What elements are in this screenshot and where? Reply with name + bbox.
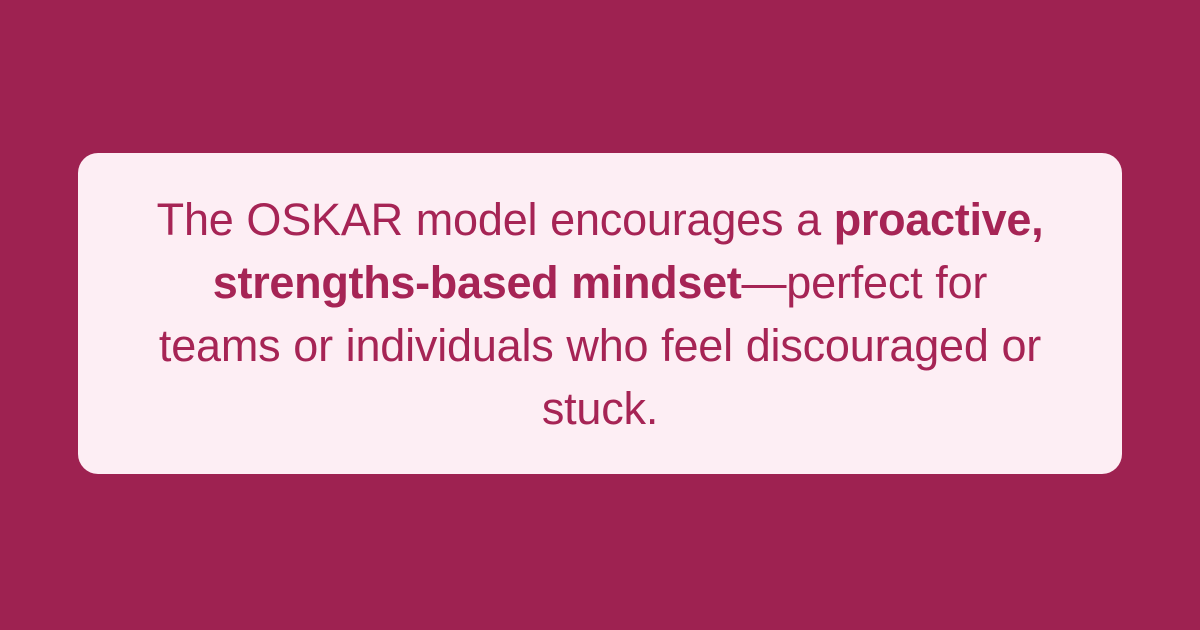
quote-text: The OSKAR model encourages a proactive, … <box>150 188 1050 440</box>
quote-lead-in: The OSKAR model encourages a <box>157 194 834 245</box>
quote-card: The OSKAR model encourages a proactive, … <box>78 153 1122 474</box>
quote-card-canvas: The OSKAR model encourages a proactive, … <box>0 0 1200 630</box>
